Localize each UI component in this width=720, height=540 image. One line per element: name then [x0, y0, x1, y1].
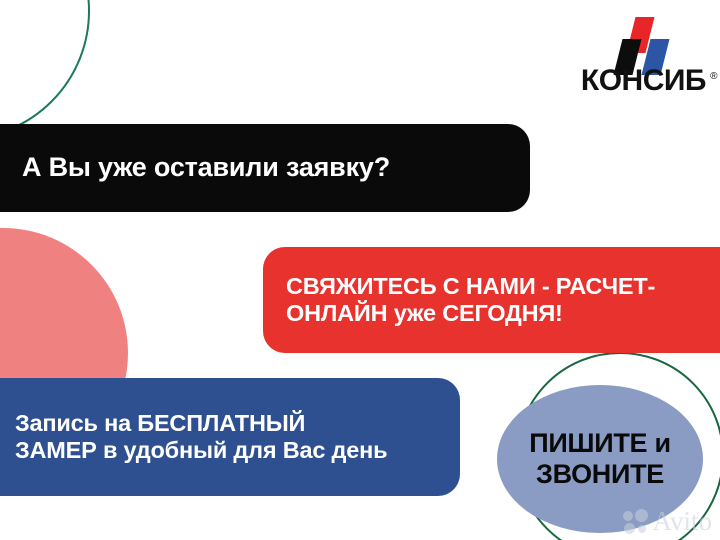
avito-dots-icon [623, 509, 651, 535]
decorative-green-circle-outline-top [0, 0, 90, 140]
booking-banner-text: Запись на БЕСПЛАТНЫЙ ЗАМЕР в удобный для… [15, 410, 387, 465]
avito-watermark: Avito [623, 508, 713, 535]
question-banner: А Вы уже оставили заявку? [0, 124, 530, 212]
question-banner-text: А Вы уже оставили заявку? [22, 152, 390, 183]
avito-watermark-label: Avito [653, 508, 713, 535]
booking-banner-line-1: Запись на БЕСПЛАТНЫЙ [15, 410, 387, 437]
contact-banner: СВЯЖИТЕСЬ С НАМИ - РАСЧЕТ- ОНЛАЙН уже СЕ… [263, 247, 720, 353]
avito-dot-3-icon [624, 523, 635, 534]
registered-trademark-icon: ® [710, 62, 717, 92]
callout-line-1: ПИШИТЕ и [529, 428, 671, 459]
contact-banner-text: СВЯЖИТЕСЬ С НАМИ - РАСЧЕТ- ОНЛАЙН уже СЕ… [286, 273, 655, 328]
callout-line-2: ЗВОНИТЕ [529, 459, 671, 490]
advertisement-poster: КОНСИБ® А Вы уже оставили заявку? СВЯЖИТ… [0, 0, 720, 540]
logo-wordmark: КОНСИБ® [581, 66, 706, 96]
booking-banner: Запись на БЕСПЛАТНЫЙ ЗАМЕР в удобный для… [0, 378, 460, 496]
booking-banner-line-2: ЗАМЕР в удобный для Вас день [15, 437, 387, 464]
logo-wordmark-text: КОНСИБ [581, 64, 706, 97]
callout-text: ПИШИТЕ и ЗВОНИТЕ [529, 428, 671, 490]
avito-dot-4-icon [638, 525, 646, 533]
avito-dot-1-icon [623, 511, 633, 521]
avito-dot-2-icon [635, 509, 648, 522]
contact-banner-line-2: ОНЛАЙН уже СЕГОДНЯ! [286, 300, 655, 327]
logo-mark-icon [574, 16, 706, 64]
company-logo: КОНСИБ® [574, 16, 706, 96]
contact-banner-line-1: СВЯЖИТЕСЬ С НАМИ - РАСЧЕТ- [286, 273, 655, 300]
